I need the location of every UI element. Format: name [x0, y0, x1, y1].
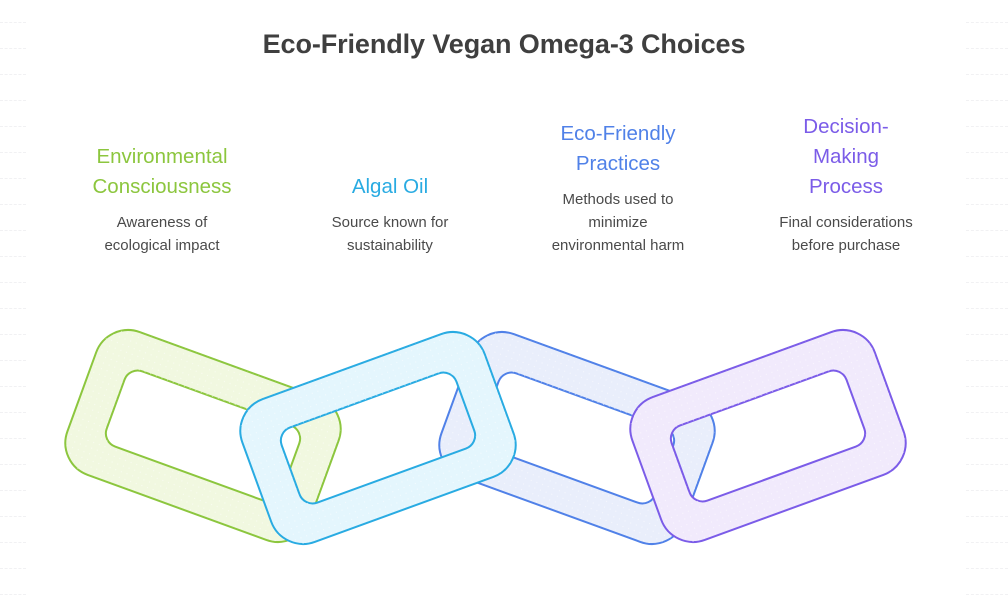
- link-texture: [621, 320, 915, 551]
- column-description: Final considerations before purchase: [779, 211, 912, 257]
- link-texture: [231, 322, 525, 553]
- column-description: Methods used to minimize environmental h…: [552, 188, 685, 257]
- column-heading: Eco-Friendly Practices: [560, 119, 675, 179]
- link-algal-oil: [231, 322, 525, 553]
- column-decision-making-process: Decision- Making Process Final considera…: [732, 112, 960, 257]
- page-title: Eco-Friendly Vegan Omega-3 Choices: [0, 29, 1008, 60]
- column-heading: Decision- Making Process: [803, 112, 888, 202]
- column-list: Environmental Consciousness Awareness of…: [48, 92, 960, 257]
- chain-illustration: [0, 288, 1008, 597]
- column-eco-friendly-practices: Eco-Friendly Practices Methods used to m…: [504, 119, 732, 257]
- column-description: Awareness of ecological impact: [104, 211, 219, 257]
- column-algal-oil: Algal Oil Source known for sustainabilit…: [276, 172, 504, 257]
- column-heading: Environmental Consciousness: [92, 142, 231, 202]
- link-decision-making-process: [621, 320, 915, 551]
- infographic-page: Eco-Friendly Vegan Omega-3 Choices Envir…: [0, 0, 1008, 597]
- column-heading: Algal Oil: [352, 172, 428, 202]
- column-environmental-consciousness: Environmental Consciousness Awareness of…: [48, 142, 276, 257]
- chain-svg: [0, 288, 1008, 597]
- column-description: Source known for sustainability: [332, 211, 449, 257]
